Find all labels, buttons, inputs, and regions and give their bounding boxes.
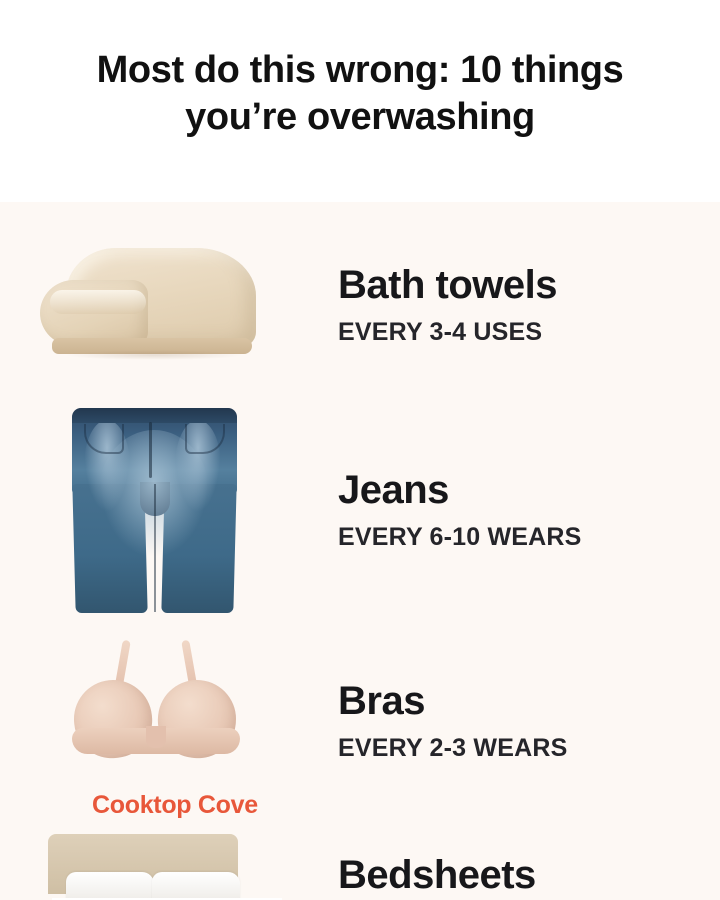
towel-fold-shape <box>50 290 146 314</box>
nude-bra-image <box>72 640 240 772</box>
item-title: Bras <box>338 680 720 722</box>
item-thumbnail <box>0 394 330 626</box>
jeans-waistband-shape <box>72 408 237 423</box>
item-title: Bedsheets <box>338 854 720 896</box>
item-text-block: Bedsheets <box>330 828 720 896</box>
item-text-block: Bras EVERY 2-3 WEARS <box>330 680 720 763</box>
jeans-inseam <box>154 484 156 612</box>
folded-bath-towel-image <box>38 246 258 361</box>
towel-shadow-shape <box>64 350 244 360</box>
page-title: Most do this wrong: 10 things you’re ove… <box>40 47 680 140</box>
item-thumbnail <box>0 626 330 816</box>
item-text-block: Jeans EVERY 6-10 WEARS <box>330 469 720 552</box>
blue-denim-jeans-image <box>72 408 237 613</box>
item-frequency: EVERY 3-4 USES <box>338 318 720 347</box>
jeans-fly-seam <box>149 422 152 478</box>
item-thumbnail <box>0 216 330 394</box>
bra-center-gore <box>146 726 166 748</box>
item-frequency: EVERY 2-3 WEARS <box>338 734 720 763</box>
list-item[interactable]: Bedsheets <box>0 828 720 900</box>
list-item[interactable]: Bras EVERY 2-3 WEARS <box>0 626 720 816</box>
item-title: Jeans <box>338 469 720 511</box>
bed-right-pillow <box>152 872 240 900</box>
bed-left-pillow <box>66 872 154 900</box>
bed-with-pillows-image <box>0 828 300 900</box>
infographic-page: Most do this wrong: 10 things you’re ove… <box>0 0 720 900</box>
item-text-block: Bath towels EVERY 3-4 USES <box>330 264 720 347</box>
item-thumbnail <box>0 828 330 900</box>
cooktop-cove-watermark: Cooktop Cove <box>92 791 258 820</box>
header-banner: Most do this wrong: 10 things you’re ove… <box>0 0 720 202</box>
item-frequency: EVERY 6-10 WEARS <box>338 523 720 552</box>
item-title: Bath towels <box>338 264 720 306</box>
list-item[interactable]: Bath towels EVERY 3-4 USES <box>0 216 720 394</box>
list-item[interactable]: Jeans EVERY 6-10 WEARS <box>0 394 720 626</box>
items-panel: Bath towels EVERY 3-4 USES <box>0 202 720 900</box>
